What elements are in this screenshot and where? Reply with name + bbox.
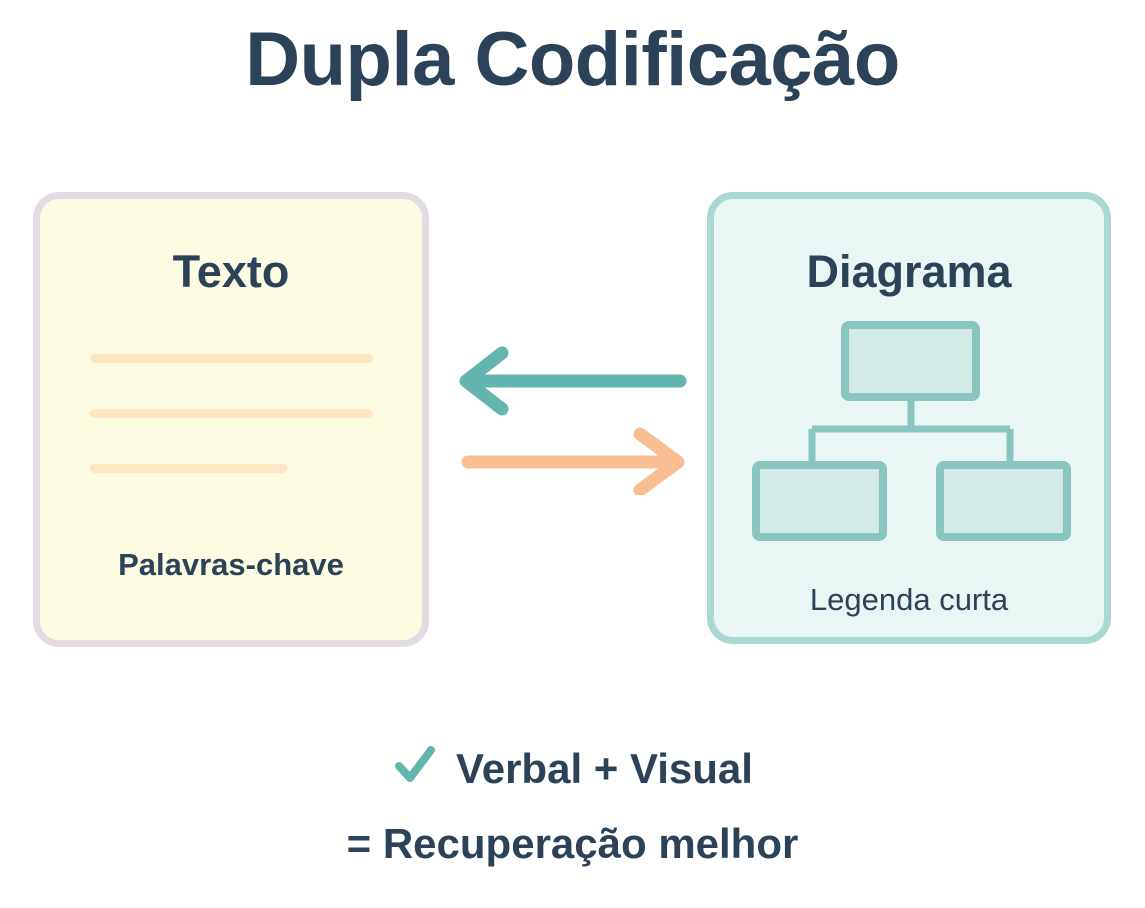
diagram-card-caption: Legenda curta: [714, 584, 1104, 615]
arrow-text-to-diagram: [468, 434, 678, 490]
arrows-group: [440, 345, 700, 495]
arrow-diagram-to-text: [466, 353, 680, 409]
text-lines-group: [40, 354, 422, 519]
infographic-canvas: Dupla Codificação Texto Palavras-chave D…: [0, 0, 1145, 908]
tree-diagram-group: [714, 319, 1104, 549]
text-card-caption: Palavras-chave: [40, 549, 422, 580]
tree-node-child-right: [940, 465, 1067, 537]
diagram-card-title: Diagrama: [714, 249, 1104, 294]
tree-connectors: [812, 397, 1010, 467]
page-title: Dupla Codificação: [0, 22, 1145, 98]
tree-node-child-left: [756, 465, 883, 537]
text-line-2: [90, 409, 373, 418]
tree-diagram-icon: [744, 319, 1074, 549]
conclusion-line-1-text: Verbal + Visual: [456, 748, 753, 790]
conclusion-line-2-text: = Recuperação melhor: [0, 823, 1145, 865]
text-card: Texto Palavras-chave: [33, 192, 429, 647]
text-line-1: [90, 354, 373, 363]
text-card-title: Texto: [40, 249, 422, 294]
conclusion-line-1-row: Verbal + Visual: [0, 742, 1145, 795]
text-line-3: [90, 464, 287, 473]
conclusion-block: Verbal + Visual = Recuperação melhor: [0, 742, 1145, 865]
check-icon: [392, 742, 438, 795]
tree-node-root: [845, 325, 976, 397]
diagram-card: Diagrama Legenda curta: [707, 192, 1111, 644]
